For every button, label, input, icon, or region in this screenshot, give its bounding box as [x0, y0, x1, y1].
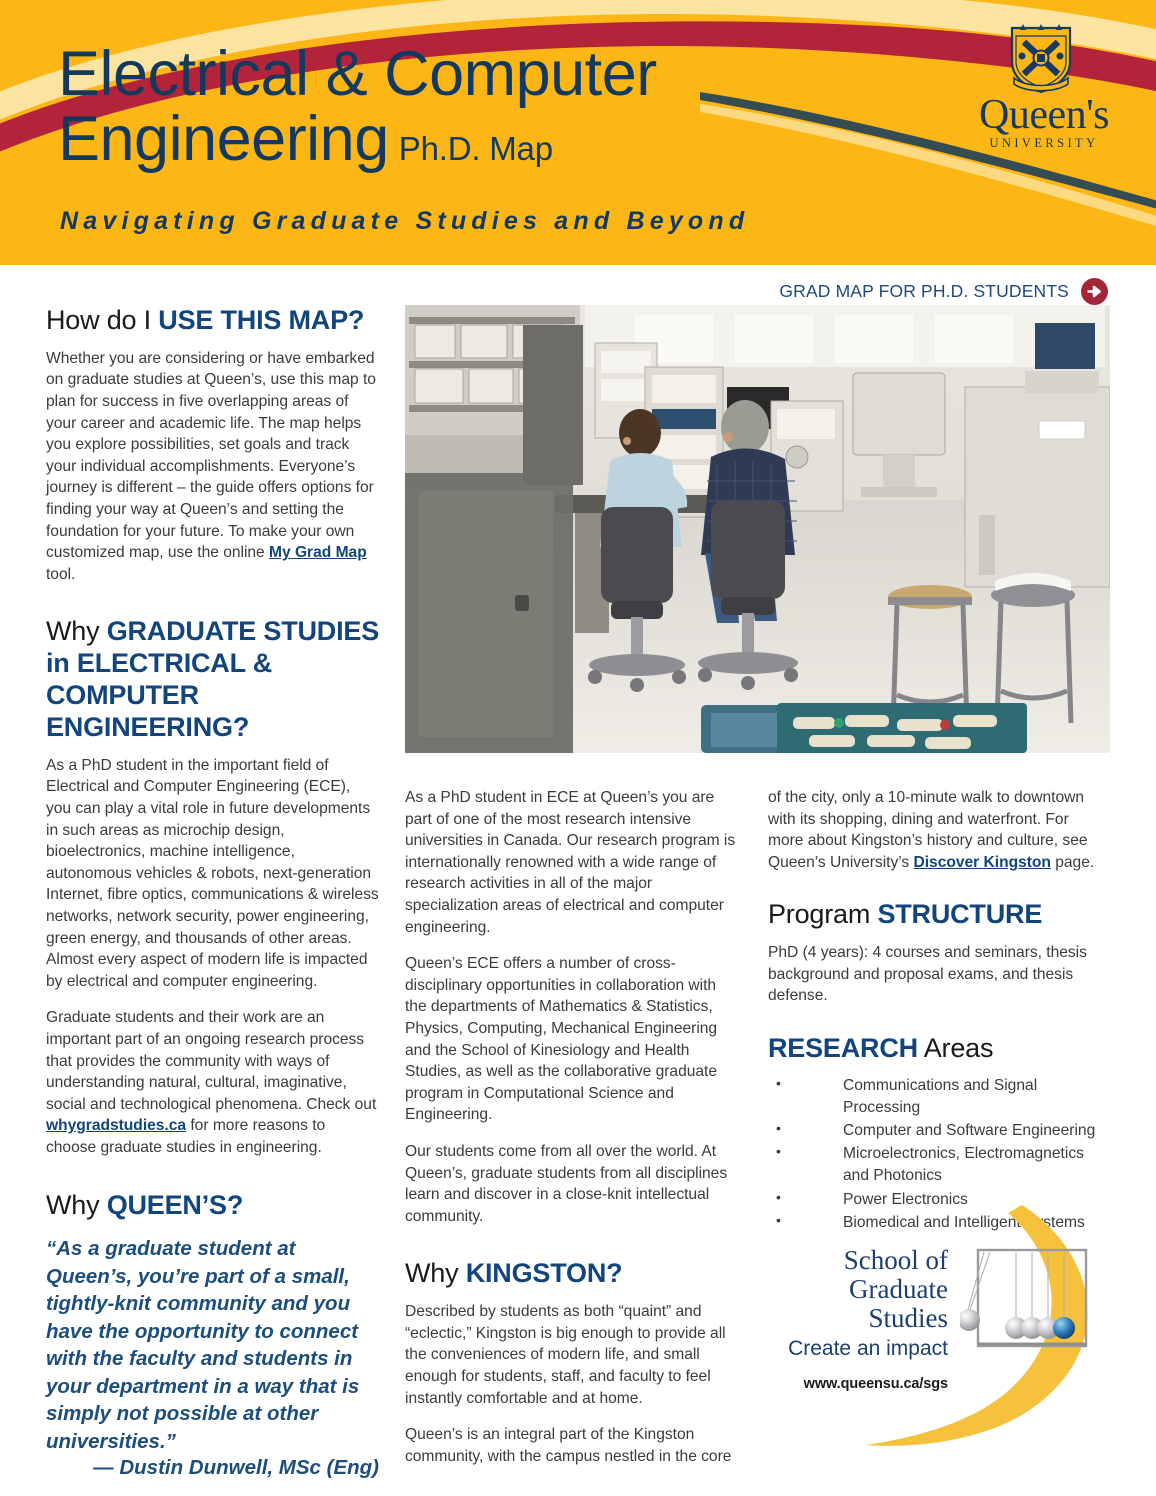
paragraph-downtown-walk-tail: page. [1051, 854, 1094, 871]
title-subtitle-word: Ph.D. Map [389, 130, 553, 167]
heading-why-queens: Why QUEEN’S? [46, 1190, 379, 1222]
paragraph-research-intensive: As a PhD student in ECE at Queen’s you a… [405, 787, 740, 938]
gradmap-banner[interactable]: GRAD MAP FOR PH.D. STUDENTS [779, 278, 1108, 305]
list-item: Communications and Signal Processing [768, 1075, 1108, 1119]
poster-title: Electrical & Computer EngineeringPh.D. M… [58, 42, 958, 172]
heading-program-structure: Program STRUCTURE [768, 899, 1108, 931]
heading-use-this-map: How do I USE THIS MAP? [46, 305, 379, 337]
paragraph-research-process-text: Graduate students and their work are an … [46, 1009, 376, 1112]
newtons-cradle-icon [960, 1236, 1095, 1371]
paragraph-use-this-map-text: Whether you are considering or have emba… [46, 350, 376, 561]
heading-why-graduate-studies: Why GRADUATE STUDIES in ELECTRICAL & COM… [46, 616, 379, 743]
school-of-graduate-studies-logo: School of Graduate Studies Create an imp… [770, 1218, 1156, 1448]
heading-research-areas-bold: RESEARCH [768, 1033, 918, 1063]
title-main-word: Engineering [58, 104, 389, 174]
heading-research-areas-plain: Areas [918, 1033, 993, 1063]
poster-tagline: Navigating Graduate Studies and Beyond [60, 207, 749, 236]
poster-page: Electrical & Computer EngineeringPh.D. M… [0, 0, 1156, 1496]
queens-university-label: UNIVERSITY [974, 136, 1114, 151]
queens-wordmark: Queen's [974, 94, 1114, 136]
paragraph-use-this-map-tail: tool. [46, 566, 75, 583]
discover-kingston-link[interactable]: Discover Kingston [913, 854, 1050, 871]
queens-university-logo: Queen's UNIVERSITY [974, 22, 1114, 157]
gradmap-label: GRAD MAP FOR PH.D. STUDENTS [779, 281, 1069, 302]
heading-why-kingston-bold: KINGSTON? [466, 1258, 623, 1288]
paragraph-downtown-walk: of the city, only a 10-minute walk to do… [768, 787, 1108, 873]
header-banner: Electrical & Computer EngineeringPh.D. M… [0, 0, 1156, 265]
arrow-right-icon[interactable] [1081, 278, 1108, 305]
sgs-line-3: Studies [788, 1304, 948, 1333]
sgs-wordmark: School of Graduate Studies Create an imp… [788, 1246, 948, 1392]
student-testimonial-quote: “As a graduate student at Queen’s, you’r… [46, 1235, 379, 1455]
heading-why-queens-bold: QUEEN’S? [107, 1190, 243, 1220]
paragraph-students-worldwide: Our students come from all over the worl… [405, 1141, 740, 1227]
paragraph-kingston-description: Described by students as both “quaint” a… [405, 1301, 740, 1409]
heading-why-kingston-plain: Why [405, 1258, 466, 1288]
heading-use-this-map-bold: USE THIS MAP? [158, 305, 364, 335]
queens-crest-icon [1002, 22, 1080, 96]
heading-why-queens-plain: Why [46, 1190, 107, 1220]
paragraph-use-this-map: Whether you are considering or have emba… [46, 348, 379, 586]
paragraph-research-process: Graduate students and their work are an … [46, 1007, 379, 1158]
paragraph-ece-field: As a PhD student in the important field … [46, 755, 379, 993]
heading-research-areas: RESEARCH Areas [768, 1033, 1108, 1065]
sgs-line-2: Graduate [788, 1275, 948, 1304]
middle-column: As a PhD student in ECE at Queen’s you a… [405, 787, 740, 1467]
heading-program-structure-bold: STRUCTURE [877, 899, 1042, 929]
lab-photo [405, 305, 1110, 753]
student-testimonial-attribution: — Dustin Dunwell, MSc (Eng) [46, 1456, 379, 1480]
paragraph-kingston-community: Queen’s is an integral part of the Kings… [405, 1424, 740, 1467]
sgs-tagline: Create an impact [788, 1336, 948, 1362]
left-column: How do I USE THIS MAP? Whether you are c… [46, 305, 379, 1480]
list-item: Computer and Software Engineering [768, 1120, 1108, 1142]
title-line-2: EngineeringPh.D. Map [58, 107, 958, 172]
heading-why-kingston: Why KINGSTON? [405, 1258, 740, 1290]
heading-use-this-map-plain: How do I [46, 305, 158, 335]
my-grad-map-link[interactable]: My Grad Map [269, 544, 367, 561]
heading-why-graduate-studies-plain: Why [46, 616, 107, 646]
whygradstudies-link[interactable]: whygradstudies.ca [46, 1117, 186, 1134]
title-line-1: Electrical & Computer [58, 42, 958, 107]
sgs-url[interactable]: www.queensu.ca/sgs [788, 1376, 948, 1392]
paragraph-cross-disciplinary: Queen’s ECE offers a number of cross-dis… [405, 953, 740, 1126]
heading-program-structure-plain: Program [768, 899, 877, 929]
sgs-line-1: School of [788, 1246, 948, 1275]
paragraph-program-structure: PhD (4 years): 4 courses and seminars, t… [768, 942, 1108, 1007]
